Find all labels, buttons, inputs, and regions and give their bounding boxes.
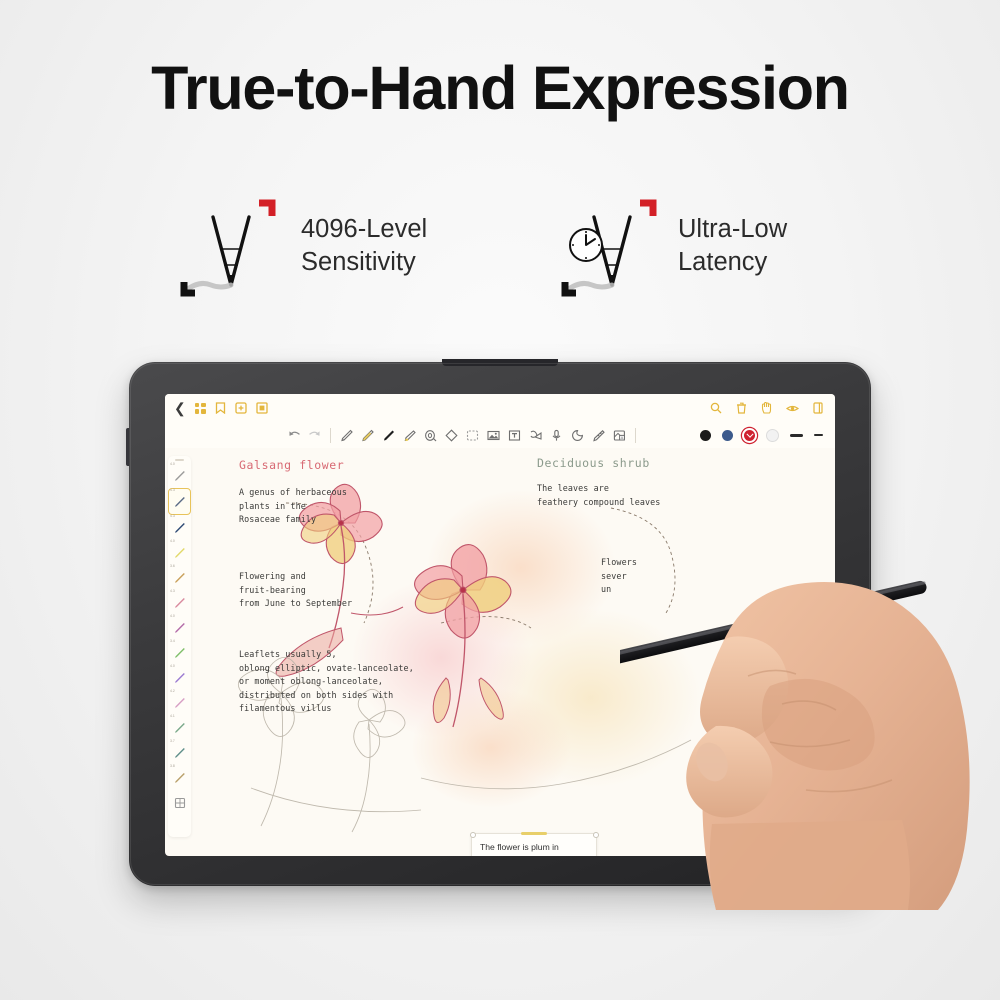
color-palette: [700, 429, 835, 442]
color-swatch-red-selected[interactable]: [744, 430, 755, 441]
fountain-pen-icon[interactable]: [336, 425, 357, 446]
note-paragraph-right: The leaves are feathery compound leaves: [537, 482, 660, 509]
app-tool-bar: A: [165, 422, 835, 448]
sticker-icon[interactable]: [567, 425, 588, 446]
sticky-note[interactable]: In Tibet "good time" or "happiness" and …: [726, 729, 835, 832]
pen-slot[interactable]: 4.0: [169, 665, 190, 690]
pen-slot[interactable]: 3.6: [169, 565, 190, 590]
pen-slot[interactable]: 4.2: [169, 690, 190, 715]
feature-label: 4096-Level Sensitivity: [301, 213, 427, 278]
bookmark-icon[interactable]: [215, 402, 226, 414]
pen-size-label: 3.7: [170, 740, 175, 743]
pen-size-label: 4.0: [170, 463, 175, 466]
color-swatch-blue[interactable]: [722, 430, 733, 441]
resize-handle-tr[interactable]: [593, 832, 599, 838]
pen-size-label: 4.1: [170, 715, 175, 718]
resize-handle-tl[interactable]: [470, 832, 476, 838]
note-paragraph-occluded: Flowers sever un: [601, 556, 637, 597]
highlighter-icon[interactable]: [399, 425, 420, 446]
color-swatch-black[interactable]: [700, 430, 711, 441]
pen-size-label: 4.3: [170, 590, 175, 593]
stroke-thin-icon[interactable]: [814, 434, 823, 436]
pen-slot[interactable]: 4.3: [169, 515, 190, 540]
marketing-page: True-to-Hand Expression 4096-Level Sensi…: [0, 0, 1000, 1000]
tag-icon[interactable]: [588, 425, 609, 446]
tablet-screen[interactable]: ❮: [165, 394, 835, 856]
pen-size-label: 4.3: [170, 515, 175, 518]
feature-row: 4096-Level Sensitivity: [0, 186, 1000, 306]
pen-slot[interactable]: 4.0: [169, 540, 190, 565]
page-mode-icon[interactable]: [813, 402, 823, 414]
trash-icon[interactable]: [736, 402, 747, 414]
pen-size-label: 4.0: [170, 665, 175, 668]
pen-size-label: 3.6: [170, 565, 175, 568]
feature-sensitivity: 4096-Level Sensitivity: [175, 186, 427, 306]
note-paragraph-1: A genus of herbaceous plants in the Rosa…: [239, 486, 347, 527]
pen-slot-active[interactable]: 4.3: [168, 488, 191, 515]
pen-rail: 4.0 4.3 4.3 4.0 3.6 4.3 4.0 3.4 4.0: [168, 456, 191, 837]
ink-roller-icon[interactable]: [420, 425, 441, 446]
add-page-icon[interactable]: [235, 402, 247, 414]
stroke-medium-icon[interactable]: [790, 434, 803, 437]
pen-slot[interactable]: 4.3: [169, 590, 190, 615]
pen-slot[interactable]: 4.0: [169, 463, 190, 488]
stylus-pen-clock-icon: [552, 187, 670, 305]
ocr-icon[interactable]: A: [609, 425, 630, 446]
camera-bar: [442, 359, 558, 366]
feature-latency: Ultra-Low Latency: [552, 186, 787, 306]
pen-slot[interactable]: 3.4: [169, 640, 190, 665]
text-box-drag-bar[interactable]: [521, 832, 547, 835]
text-box-content: The flower is plum in shape and golden i…: [480, 841, 591, 856]
lasso-select-icon[interactable]: [462, 425, 483, 446]
pen-size-label: 3.4: [170, 640, 175, 643]
undo-icon[interactable]: [283, 425, 304, 446]
pen-size-label: 4.2: [170, 690, 175, 693]
rail-grip[interactable]: [175, 459, 184, 461]
app-top-bar: ❮: [165, 394, 835, 422]
feature-label: Ultra-Low Latency: [678, 213, 787, 278]
text-box-widget[interactable]: The flower is plum in shape and golden i…: [471, 833, 597, 856]
text-box-icon[interactable]: [504, 425, 525, 446]
pen-slot[interactable]: 4.1: [169, 715, 190, 740]
redo-icon[interactable]: [304, 425, 325, 446]
hand-tool-icon[interactable]: [761, 402, 772, 414]
stylus-pen-icon: [175, 187, 293, 305]
pen-size-label: 3.8: [170, 765, 175, 768]
sticky-note-text: In Tibet "good time" or "happiness" and …: [735, 743, 835, 836]
svg-text:A: A: [621, 435, 624, 440]
pen-slot[interactable]: 3.8: [169, 765, 190, 790]
toolbar-divider-2: [635, 428, 636, 443]
color-swatch-white[interactable]: [766, 429, 779, 442]
toolbar-divider: [330, 428, 331, 443]
back-chevron-icon[interactable]: ❮: [174, 401, 186, 415]
pen-size-label: 4.0: [170, 615, 175, 618]
frame-icon[interactable]: [256, 402, 268, 414]
page-title: True-to-Hand Expression: [0, 56, 1000, 120]
image-icon[interactable]: [483, 425, 504, 446]
note-title-right: Deciduous shrub: [537, 456, 650, 470]
pen-size-label: 4.3: [170, 489, 175, 492]
layers-icon[interactable]: [169, 790, 190, 815]
eye-icon[interactable]: [786, 404, 799, 413]
microphone-icon[interactable]: [546, 425, 567, 446]
pen-size-label: 4.0: [170, 540, 175, 543]
pencil-icon[interactable]: [357, 425, 378, 446]
grid-view-icon[interactable]: [195, 403, 206, 414]
search-icon[interactable]: [710, 402, 722, 414]
pen-slot[interactable]: 3.7: [169, 740, 190, 765]
note-title-left: Galsang flower: [239, 458, 344, 472]
shape-icon[interactable]: [525, 425, 546, 446]
marker-pen-icon[interactable]: [378, 425, 399, 446]
eraser-icon[interactable]: [441, 425, 462, 446]
note-canvas[interactable]: Galsang flower A genus of herbaceous pla…: [191, 448, 835, 856]
tablet-device: ❮: [129, 362, 871, 886]
pen-slot[interactable]: 4.0: [169, 615, 190, 640]
note-paragraph-3: Leaflets usually 5, oblong elliptic, ova…: [239, 648, 414, 716]
side-button[interactable]: [126, 428, 129, 466]
note-paragraph-2: Flowering and fruit-bearing from June to…: [239, 570, 352, 611]
